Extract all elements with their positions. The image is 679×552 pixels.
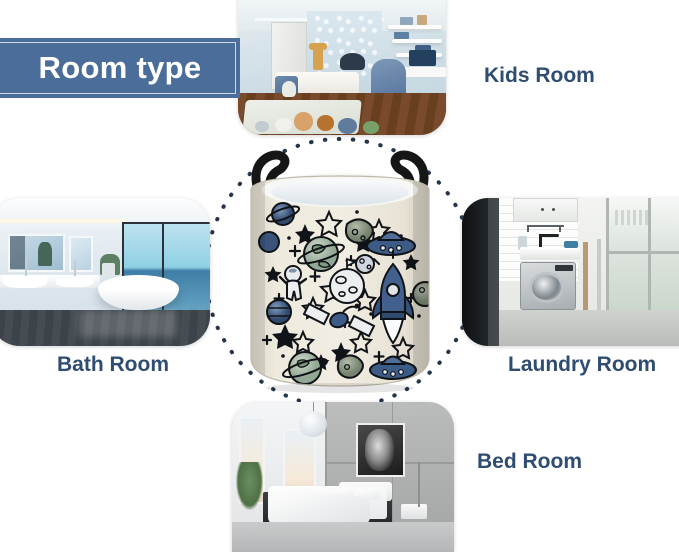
- motif-asteroid: [346, 219, 373, 242]
- photo-laundry-room: [462, 198, 679, 346]
- motif-small-orb: [356, 255, 374, 273]
- photo-kids-room: [238, 0, 446, 135]
- room-type-infographic: Kids Room Bath Room: [0, 0, 679, 541]
- room-label-bed: Bed Room: [477, 450, 582, 474]
- laundry-room-scene: [462, 198, 679, 346]
- bed-room-scene: [232, 402, 454, 552]
- bath-room-scene: [0, 198, 210, 346]
- motif-asteroid-2: [338, 355, 363, 377]
- title-banner: Room type: [0, 38, 240, 98]
- room-label-bath: Bath Room: [57, 353, 169, 377]
- photo-bed-room: [232, 402, 454, 552]
- page-title: Room type: [25, 50, 202, 86]
- photo-bath-room: [0, 198, 210, 346]
- motif-striped-planet: [267, 300, 291, 324]
- room-label-laundry: Laundry Room: [508, 353, 656, 377]
- hamper-lining: [271, 179, 409, 206]
- product-laundry-hamper: [243, 146, 437, 394]
- kids-room-scene: [238, 0, 446, 135]
- room-label-kids: Kids Room: [484, 64, 595, 88]
